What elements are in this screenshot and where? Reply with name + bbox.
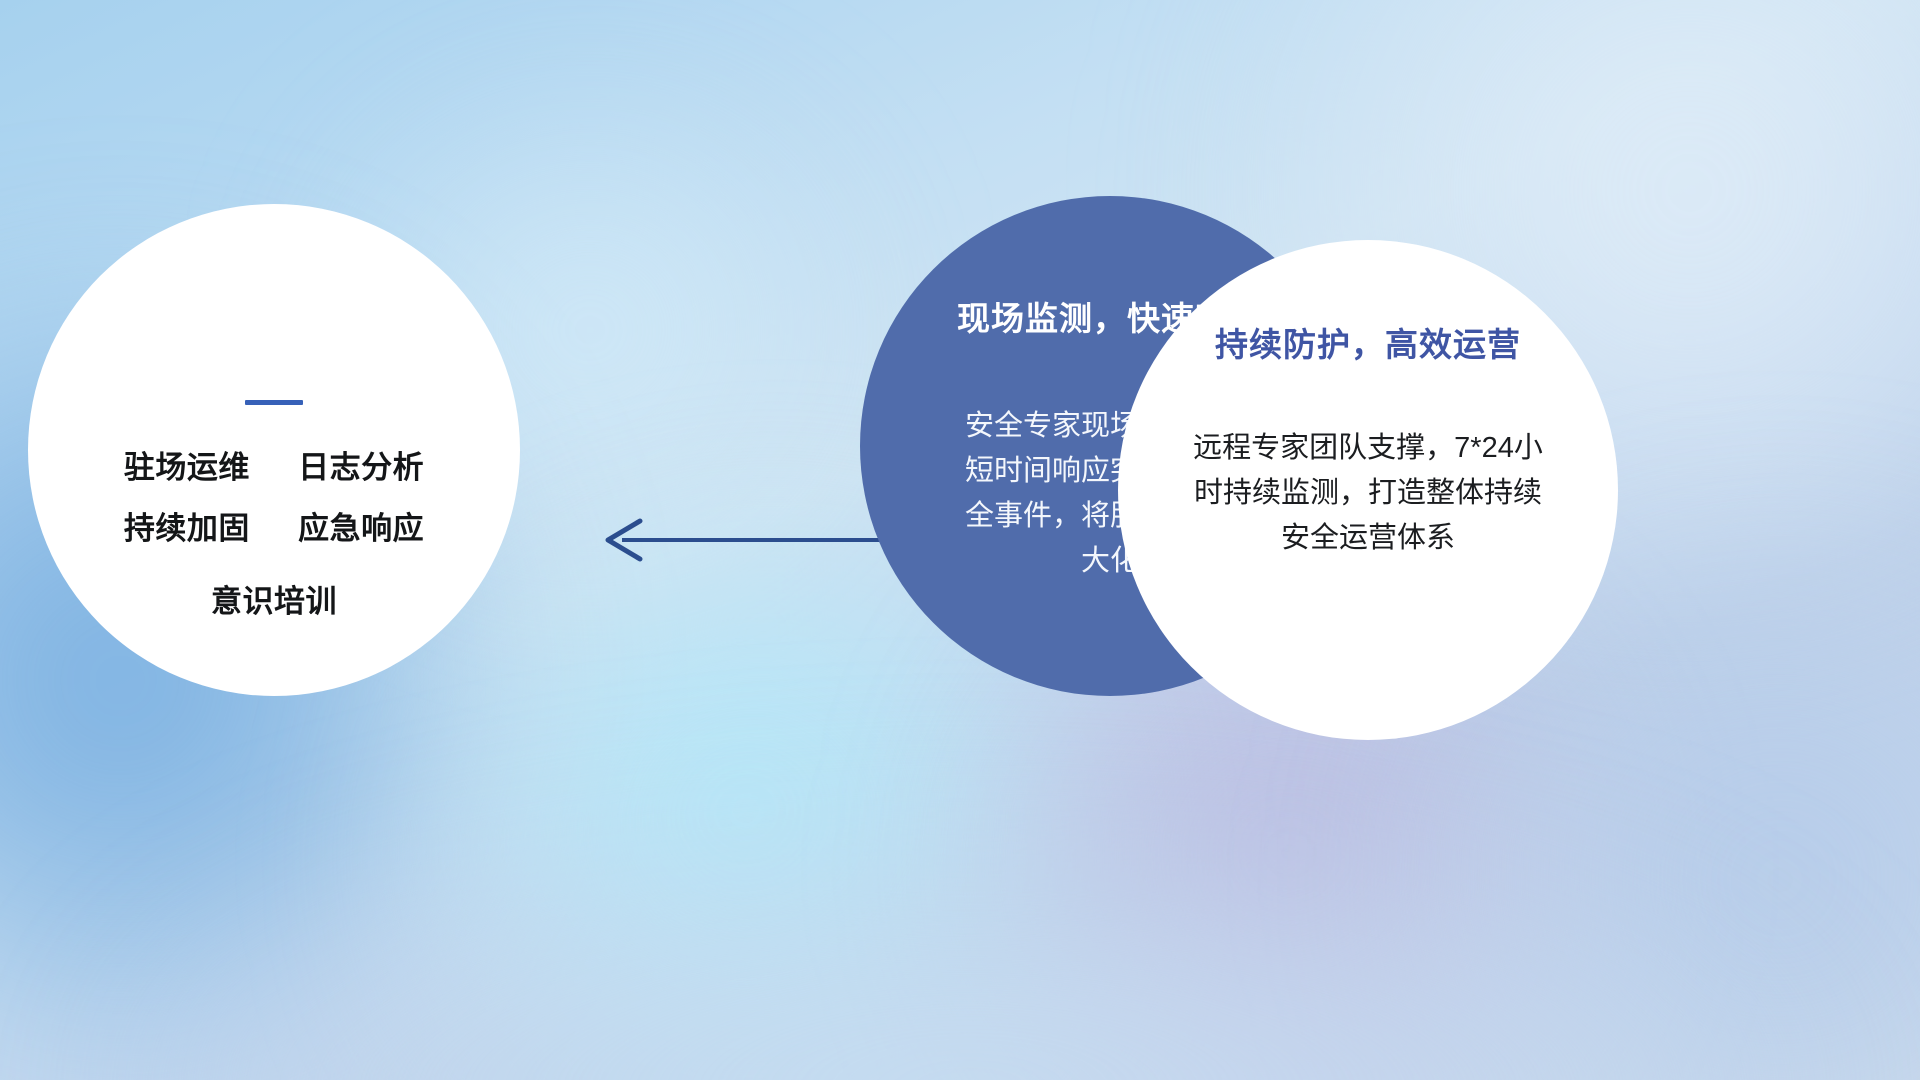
capability-row: 意识培训 <box>211 583 337 622</box>
circle-title-continuous-operations: 持续防护，高效运营 <box>1215 318 1521 366</box>
capability-label: 日志分析 <box>298 450 424 485</box>
capability-label: 持续加固 <box>124 511 250 546</box>
circle-body-continuous-operations: 远程专家团队支撑，7*24小时持续监测，打造整体持续安全运营体系 <box>1182 426 1554 561</box>
circle-continuous-operations: 持续防护，高效运营 远程专家团队支撑，7*24小时持续监测，打造整体持续安全运营… <box>1118 240 1618 740</box>
section-divider <box>245 400 303 405</box>
capability-row: 驻场运维 日志分析 <box>124 449 424 488</box>
capability-label: 应急响应 <box>298 511 424 546</box>
capability-label: 意识培训 <box>211 584 337 619</box>
capability-row: 持续加固 应急响应 <box>124 510 424 549</box>
capability-label: 驻场运维 <box>124 450 250 485</box>
circle-onsite-capabilities: 驻场运维 日志分析 持续加固 应急响应 意识培训 <box>28 204 520 696</box>
